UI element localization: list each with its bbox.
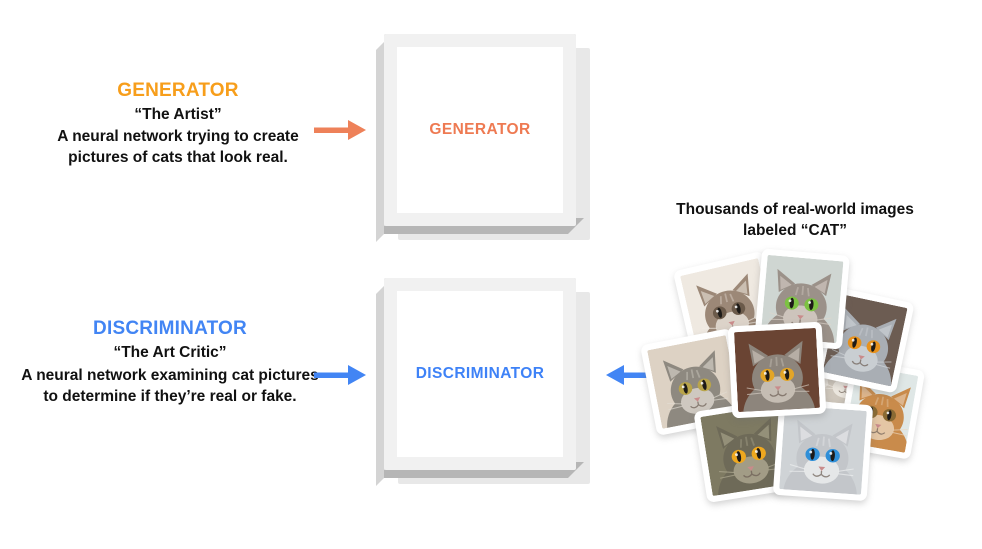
- discriminator-heading: DISCRIMINATOR: [20, 318, 320, 340]
- diagram-canvas: GENERATOR “The Artist” A neural network …: [0, 0, 982, 549]
- generator-box: GENERATOR: [384, 34, 576, 226]
- discriminator-box-face: DISCRIMINATOR: [384, 278, 576, 470]
- discriminator-box-label: DISCRIMINATOR: [416, 365, 545, 383]
- arrow-right-generator-icon: [312, 110, 372, 150]
- discriminator-description: A neural network examining cat pictures …: [20, 365, 320, 407]
- generator-box-label: GENERATOR: [429, 121, 530, 139]
- generator-box-inner: GENERATOR: [397, 47, 563, 213]
- generator-heading: GENERATOR: [28, 80, 328, 102]
- arrow-right-discriminator-icon: [312, 355, 372, 395]
- discriminator-box-bevel-left: [376, 286, 384, 486]
- discriminator-subtitle: “The Art Critic”: [20, 343, 320, 364]
- tabby-under-blanket-image: [734, 328, 820, 412]
- discriminator-box: DISCRIMINATOR: [384, 278, 576, 470]
- generator-description: A neural network trying to create pictur…: [28, 127, 328, 169]
- generator-description-block: GENERATOR “The Artist” A neural network …: [28, 80, 328, 169]
- generator-box-face: GENERATOR: [384, 34, 576, 226]
- cat-photo: [728, 322, 827, 419]
- discriminator-description-block: DISCRIMINATOR “The Art Critic” A neural …: [20, 318, 320, 407]
- generator-subtitle: “The Artist”: [28, 105, 328, 126]
- dataset-caption: Thousands of real-world images labeled “…: [670, 200, 920, 242]
- discriminator-box-inner: DISCRIMINATOR: [397, 291, 563, 457]
- blue-eyed-ragdoll-image: [779, 405, 867, 495]
- generator-box-bevel-left: [376, 42, 384, 242]
- cat-photo-collage: [648, 252, 918, 514]
